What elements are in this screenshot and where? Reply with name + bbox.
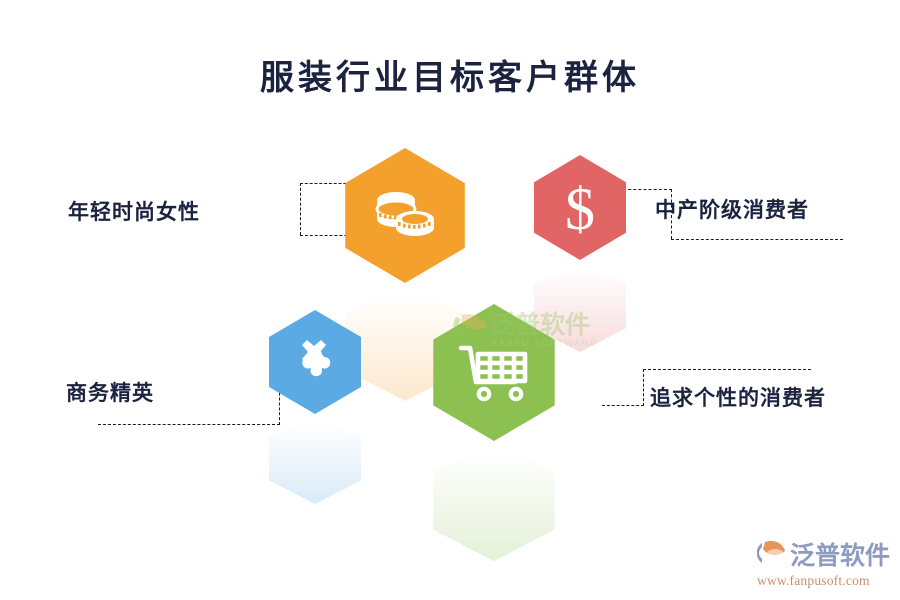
hexagon-green-reflection: [428, 441, 560, 561]
hexagon-orange[interactable]: [340, 148, 470, 283]
hexagon-red[interactable]: $: [530, 155, 630, 260]
connector-young-women-segment-vertical: [300, 183, 301, 235]
svg-text:$: $: [565, 177, 595, 239]
connector-middle-class-segment-bottom: [671, 239, 843, 240]
label-middle-class: 中产阶级消费者: [655, 194, 809, 224]
hexagon-green[interactable]: [428, 304, 560, 441]
connector-individuality-segment-top: [643, 369, 811, 370]
hexagon-blue-reflection: [265, 414, 365, 504]
fanpu-logo-icon: [757, 538, 787, 571]
label-young-women: 年轻时尚女性: [68, 196, 200, 226]
dollar-sign-icon: $: [557, 177, 603, 239]
brand-url: www.fanpusoft.com: [757, 573, 892, 589]
page-title: 服装行业目标客户群体: [0, 50, 900, 99]
node-middle-class[interactable]: $: [530, 155, 630, 260]
brand-logo-row: 泛普软件: [757, 536, 892, 572]
node-young-women[interactable]: [340, 148, 470, 283]
label-individuality: 追求个性的消费者: [650, 382, 826, 412]
brand-name: 泛普软件: [790, 536, 890, 572]
shopping-cart-icon: [458, 342, 530, 404]
brand-logo: 泛普软件 www.fanpusoft.com: [757, 536, 892, 588]
connector-individuality-segment-left: [602, 405, 644, 406]
connector-business-elite-segment-horizontal: [98, 424, 280, 425]
hexagon-blue[interactable]: [265, 310, 365, 414]
connector-individuality-segment-vertical: [643, 369, 644, 406]
puzzle-piece-icon: [290, 337, 340, 387]
coins-icon: [369, 186, 441, 246]
node-business-elite[interactable]: [265, 310, 365, 414]
label-business-elite: 商务精英: [66, 377, 154, 407]
node-individuality[interactable]: [428, 304, 560, 441]
infographic-canvas: 服装行业目标客户群体: [0, 0, 900, 600]
